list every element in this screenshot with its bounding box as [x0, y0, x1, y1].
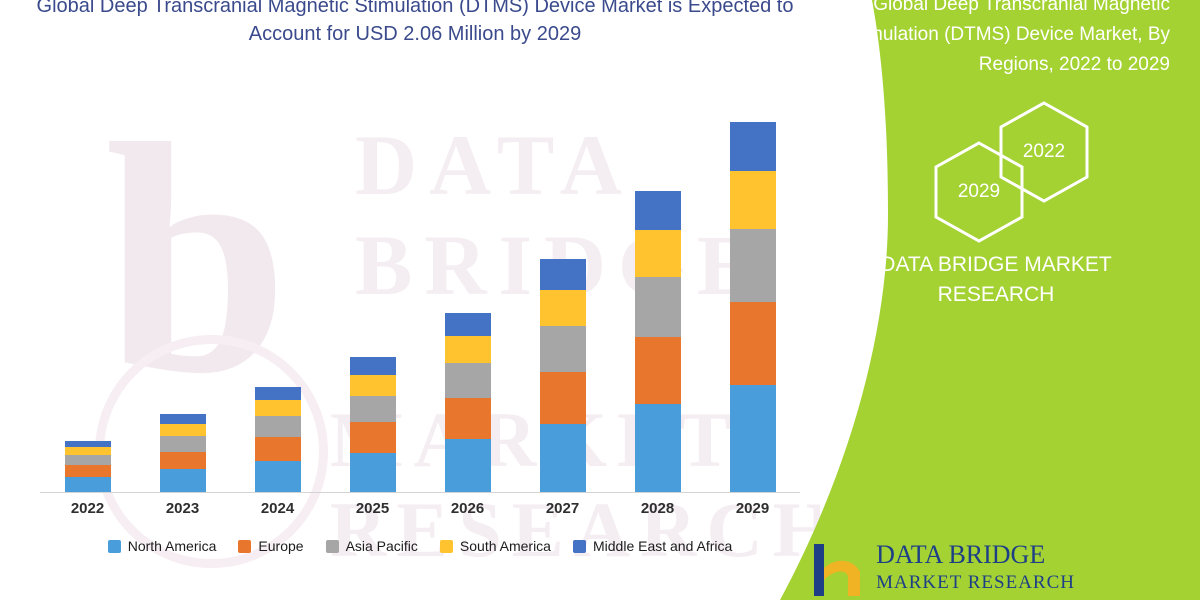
bar-column — [445, 313, 491, 492]
panel-brand-name: DATA BRIDGE MARKET RESEARCH — [816, 250, 1176, 310]
x-axis-label: 2023 — [138, 500, 228, 517]
bar-column — [255, 387, 301, 492]
bar-segment — [65, 447, 111, 455]
footer-logo: DATA BRIDGE MARKET RESEARCH — [808, 538, 1075, 600]
x-axis-label: 2026 — [423, 500, 513, 517]
x-axis-label: 2028 — [613, 500, 703, 517]
bar-segment — [350, 396, 396, 422]
bar-segment — [65, 477, 111, 492]
legend-swatch — [440, 540, 453, 553]
bar-segment — [160, 452, 206, 470]
bar-segment — [635, 191, 681, 230]
bar-column — [160, 414, 206, 492]
bar-segment — [730, 229, 776, 301]
x-axis-line — [40, 492, 800, 493]
bar-segment — [160, 414, 206, 424]
bar-segment — [350, 357, 396, 375]
green-side-panel: Global Deep Transcranial Magnetic Stimul… — [780, 0, 1200, 600]
bar-segment — [160, 469, 206, 492]
bar-segment — [445, 313, 491, 336]
legend-label: Asia Pacific — [346, 538, 418, 554]
panel-title: Global Deep Transcranial Magnetic Stimul… — [810, 0, 1170, 80]
bar-segment — [255, 437, 301, 461]
bar-segment — [540, 290, 586, 326]
bar-segment — [445, 398, 491, 440]
panel-brand-line2: RESEARCH — [816, 280, 1176, 310]
chart-legend: North AmericaEuropeAsia PacificSouth Ame… — [40, 538, 800, 554]
bar-segment — [255, 461, 301, 492]
bar-segment — [540, 372, 586, 425]
bar-segment — [445, 336, 491, 363]
legend-item: Europe — [238, 538, 303, 554]
bar-chart-plot — [40, 92, 800, 492]
bar-segment — [730, 385, 776, 492]
bar-segment — [540, 424, 586, 492]
bar-segment — [350, 422, 396, 453]
legend-swatch — [326, 540, 339, 553]
bar-segment — [65, 455, 111, 465]
legend-item: Asia Pacific — [326, 538, 418, 554]
bar-segment — [445, 363, 491, 398]
footer-logo-line1: DATA BRIDGE — [876, 541, 1075, 569]
bridge-logo-icon — [808, 538, 864, 600]
bar-segment — [350, 453, 396, 492]
bar-column — [65, 441, 111, 492]
legend-item: Middle East and Africa — [573, 538, 732, 554]
bar-segment — [255, 416, 301, 437]
footer-logo-line2: MARKET RESEARCH — [876, 569, 1075, 597]
bar-segment — [540, 259, 586, 290]
bar-segment — [730, 302, 776, 385]
bar-segment — [635, 230, 681, 277]
bar-column — [350, 357, 396, 492]
x-axis-label: 2024 — [233, 500, 323, 517]
bar-segment — [730, 122, 776, 171]
hexagon-2022-label: 2022 — [998, 100, 1090, 204]
bar-segment — [160, 424, 206, 436]
x-axis-label: 2025 — [328, 500, 418, 517]
bar-segment — [445, 439, 491, 492]
legend-swatch — [238, 540, 251, 553]
legend-label: Europe — [258, 538, 303, 554]
legend-label: Middle East and Africa — [593, 538, 732, 554]
legend-label: North America — [128, 538, 217, 554]
bar-segment — [635, 277, 681, 336]
bar-segment — [635, 404, 681, 492]
bar-segment — [635, 337, 681, 405]
footer-logo-text: DATA BRIDGE MARKET RESEARCH — [876, 541, 1075, 597]
legend-label: South America — [460, 538, 551, 554]
chart-title: Global Deep Transcranial Magnetic Stimul… — [20, 0, 810, 48]
bar-segment — [350, 375, 396, 396]
x-axis-label: 2022 — [43, 500, 133, 517]
bar-segment — [540, 326, 586, 372]
bar-segment — [160, 436, 206, 451]
hexagon-2022: 2022 — [998, 100, 1090, 204]
bar-column — [540, 259, 586, 492]
bar-segment — [65, 465, 111, 477]
bar-segment — [255, 387, 301, 400]
bar-column — [730, 122, 776, 492]
legend-swatch — [573, 540, 586, 553]
x-axis-label: 2027 — [518, 500, 608, 517]
bar-segment — [730, 171, 776, 229]
legend-swatch — [108, 540, 121, 553]
bar-column — [635, 191, 681, 492]
bar-segment — [255, 400, 301, 416]
panel-brand-line1: DATA BRIDGE MARKET — [816, 250, 1176, 280]
legend-item: South America — [440, 538, 551, 554]
legend-item: North America — [108, 538, 217, 554]
